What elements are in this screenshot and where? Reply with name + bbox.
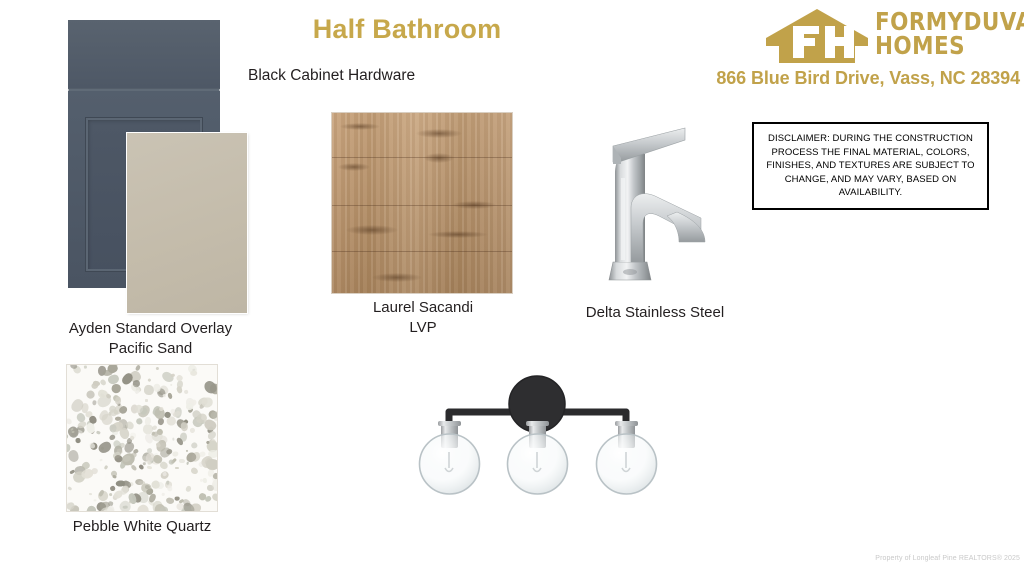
quartz-speckle: [161, 493, 164, 496]
quartz-speckle: [108, 493, 112, 497]
quartz-speckle: [147, 365, 152, 366]
watermark-text: Property of Longleaf Pine REALTORS® 2025: [840, 555, 1020, 562]
quartz-speckle: [106, 506, 114, 511]
quartz-speckle: [190, 370, 198, 376]
quartz-speckle: [84, 365, 87, 369]
quartz-speckle: [170, 383, 173, 386]
quartz-speckle: [145, 484, 150, 488]
quartz-speckle: [186, 462, 189, 465]
quartz-speckle: [97, 440, 113, 455]
quartz-speckle: [190, 467, 199, 476]
quartz-speckle: [175, 467, 179, 470]
quartz-speckle: [93, 400, 97, 405]
hardware-note-label: Black Cabinet Hardware: [248, 67, 415, 85]
quartz-speckle: [104, 465, 108, 470]
pacific-sand-sample: [127, 133, 247, 313]
quartz-speckle: [167, 485, 173, 492]
disclaimer-text: DISCLAIMER: DURING THE CONSTRUCTION PROC…: [754, 132, 987, 200]
quartz-speckle: [147, 365, 152, 366]
quartz-speckle: [145, 416, 152, 425]
quartz-speckle: [99, 379, 107, 387]
countertop-caption: Pebble White Quartz: [42, 517, 242, 537]
lvp-knot: [416, 129, 462, 138]
quartz-speckle: [72, 430, 75, 432]
cabinet-caption-line1: Ayden Standard Overlay: [28, 319, 273, 339]
quartz-speckle: [86, 389, 96, 399]
page-title: Half Bathroom: [302, 14, 512, 45]
quartz-speckle: [75, 438, 81, 444]
quartz-speckle: [109, 485, 116, 492]
flooring-caption-line2: LVP: [333, 318, 513, 338]
lvp-plank-seam: [332, 251, 512, 252]
flooring-caption-line1: Laurel Sacandi: [333, 298, 513, 318]
quartz-speckle: [156, 367, 159, 370]
quartz-speckle: [202, 397, 214, 408]
quartz-speckle: [170, 373, 175, 377]
quartz-speckle: [172, 451, 179, 457]
quartz-speckle: [185, 485, 193, 493]
vanity-light-fixture-image: [405, 372, 670, 502]
quartz-speckle: [102, 414, 113, 425]
cabinet-caption-line2: Pacific Sand: [28, 339, 273, 359]
quartz-speckle: [169, 460, 174, 465]
lvp-knot: [452, 201, 496, 209]
brand-logo: FORMYDUVAL HOMES: [763, 6, 1021, 68]
quartz-speckle: [111, 384, 121, 394]
quartz-speckle: [136, 503, 150, 511]
quartz-speckle: [100, 459, 103, 462]
quartz-speckle: [165, 497, 174, 505]
faucet-image: [585, 112, 725, 292]
quartz-speckle: [206, 485, 214, 492]
quartz-speckle: [81, 468, 95, 480]
quartz-speckle: [211, 492, 217, 503]
quartz-speckle: [96, 430, 100, 434]
quartz-speckle: [145, 399, 147, 402]
quartz-speckle: [67, 418, 73, 426]
quartz-speckle: [174, 496, 180, 500]
quartz-speckle: [167, 392, 173, 399]
lvp-flooring-swatch: [332, 113, 512, 293]
quartz-speckle: [172, 438, 175, 441]
quartz-speckle: [160, 370, 175, 385]
lvp-knot: [338, 163, 370, 171]
quartz-speckle: [67, 449, 79, 463]
quartz-speckle: [135, 417, 143, 425]
quartz-speckle: [68, 486, 73, 490]
quartz-countertop-swatch: [67, 365, 217, 511]
quartz-speckle: [179, 459, 185, 464]
brand-name: FORMYDUVAL HOMES: [875, 10, 1004, 58]
flooring-caption: Laurel Sacandi LVP: [333, 298, 513, 338]
quartz-speckle: [89, 493, 92, 496]
lvp-knot: [372, 273, 422, 282]
quartz-speckle: [143, 384, 154, 395]
quartz-speckle: [186, 449, 189, 452]
disclaimer-box: DISCLAIMER: DURING THE CONSTRUCTION PROC…: [752, 122, 989, 210]
quartz-speckle: [115, 416, 121, 421]
quartz-speckle: [180, 422, 188, 431]
quartz-speckle: [139, 407, 147, 415]
lvp-knot: [424, 153, 454, 163]
quartz-speckle: [138, 481, 145, 485]
quartz-speckle: [183, 390, 188, 395]
quartz-speckle: [114, 410, 119, 414]
quartz-speckle: [206, 459, 217, 471]
quartz-speckle: [190, 442, 198, 450]
brand-address: 866 Blue Bird Drive, Vass, NC 28394: [700, 68, 1020, 89]
lvp-plank-seam: [332, 157, 512, 158]
house-fh-logo-icon: [763, 8, 871, 64]
brand-name-line2: HOMES: [875, 34, 1004, 58]
quartz-speckle: [112, 474, 117, 478]
quartz-speckle: [94, 499, 97, 501]
lvp-knot: [340, 123, 380, 130]
lvp-knot: [428, 231, 488, 238]
quartz-speckle: [203, 477, 207, 482]
selection-sheet: Half Bathroom FORMYDUVAL HOMES 866 Blue …: [0, 0, 1024, 569]
quartz-speckle: [130, 464, 137, 471]
cabinet-drawer-front: [68, 20, 220, 89]
lvp-knot: [346, 225, 398, 235]
quartz-speckle: [147, 466, 152, 470]
quartz-speckle: [189, 427, 195, 433]
quartz-speckle: [132, 380, 140, 387]
quartz-speckle: [148, 378, 152, 382]
faucet-caption: Delta Stainless Steel: [560, 303, 750, 323]
cabinet-caption: Ayden Standard Overlay Pacific Sand: [28, 319, 273, 359]
